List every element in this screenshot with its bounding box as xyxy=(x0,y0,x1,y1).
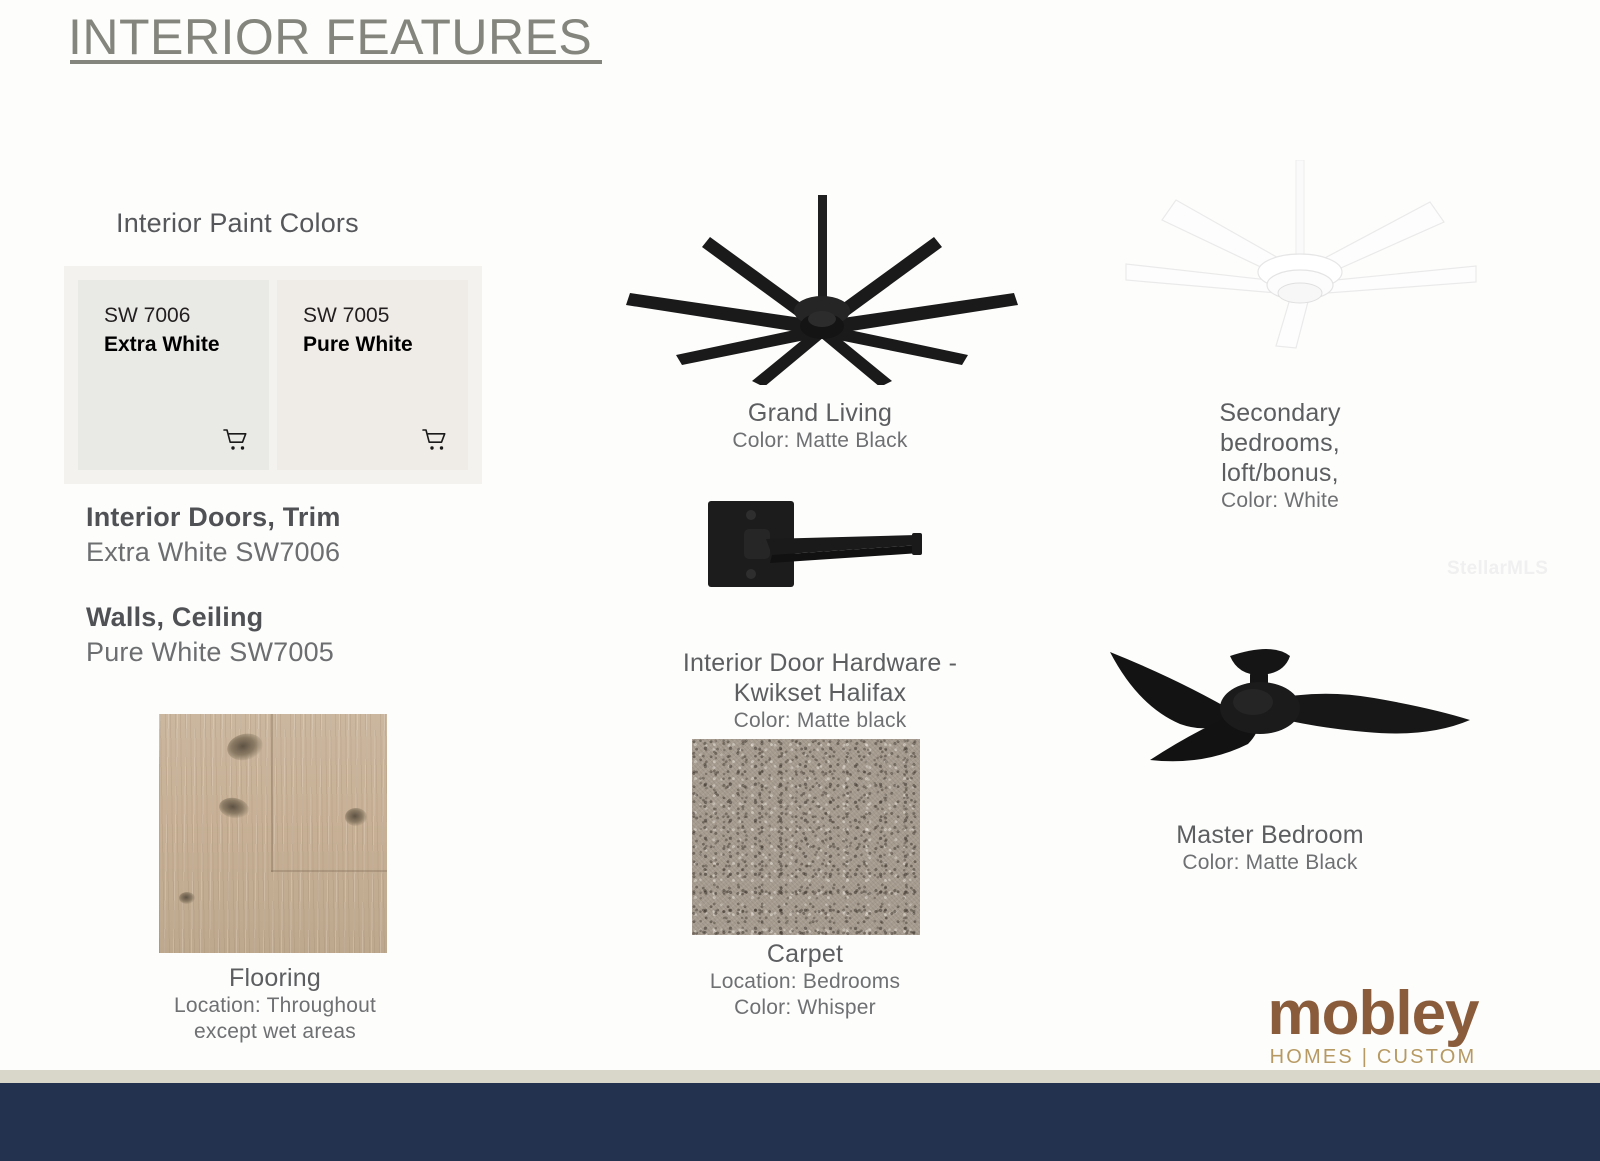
carpet-fiber-texture xyxy=(692,739,920,935)
paint-code: SW 7005 xyxy=(303,302,468,330)
paint-section-heading: Interior Paint Colors xyxy=(116,208,359,239)
caption-line-1: Interior Door Hardware - xyxy=(600,648,1040,678)
spec-value: Pure White SW7005 xyxy=(86,635,334,670)
caption-title: Carpet xyxy=(610,939,1000,969)
logo-wordmark: mobley xyxy=(1258,985,1488,1044)
caption-master-bedroom: Master Bedroom Color: Matte Black xyxy=(1080,820,1460,876)
wood-grain-texture xyxy=(159,714,387,953)
paint-name: Extra White xyxy=(104,330,269,359)
caption-carpet: Carpet Location: Bedrooms Color: Whisper xyxy=(610,939,1000,1020)
caption-location: Location: Bedrooms xyxy=(610,969,1000,995)
caption-color: Color: White xyxy=(1090,488,1470,514)
paint-name: Pure White xyxy=(303,330,468,359)
plank-seam-horizontal xyxy=(271,870,387,872)
caption-line-3: loft/bonus, xyxy=(1090,458,1470,488)
caption-line-1: Secondary xyxy=(1090,398,1470,428)
caption-location-cont: except wet areas xyxy=(120,1019,430,1045)
paint-swatch-panel: SW 7006 Extra White SW 7005 Pure White xyxy=(64,266,482,484)
spec-title: Walls, Ceiling xyxy=(86,600,334,635)
secondary-fan-image xyxy=(1100,160,1500,350)
door-lever-handle-icon xyxy=(680,495,980,625)
wood-knot-icon xyxy=(179,892,195,904)
cart-icon[interactable] xyxy=(223,428,249,452)
paint-swatch-extra-white[interactable]: SW 7006 Extra White xyxy=(78,280,269,470)
carpet-sample-image xyxy=(692,739,920,935)
ceiling-fan-5-blade-icon xyxy=(1100,160,1500,350)
flooring-sample-image xyxy=(159,714,387,953)
caption-color: Color: Matte Black xyxy=(600,428,1040,454)
caption-title: Grand Living xyxy=(600,398,1040,428)
caption-color: Color: Whisper xyxy=(610,995,1000,1021)
paint-code: SW 7006 xyxy=(104,302,269,330)
spec-interior-doors-trim: Interior Doors, Trim Extra White SW7006 xyxy=(86,500,341,569)
spec-title: Interior Doors, Trim xyxy=(86,500,341,535)
caption-line-2: Kwikset Halifax xyxy=(600,678,1040,708)
stellarmls-watermark: StellarMLS xyxy=(1447,558,1548,580)
spec-value: Extra White SW7006 xyxy=(86,535,341,570)
mobley-logo: mobley HOMES | CUSTOM xyxy=(1258,985,1488,1069)
caption-line-2: bedrooms, xyxy=(1090,428,1470,458)
caption-title: Flooring xyxy=(120,963,430,993)
page-canvas: INTERIOR FEATURES Interior Paint Colors … xyxy=(0,0,1600,1161)
master-fan-image xyxy=(1090,630,1490,790)
caption-flooring: Flooring Location: Throughout except wet… xyxy=(120,963,430,1044)
caption-secondary-fan: Secondary bedrooms, loft/bonus, Color: W… xyxy=(1090,398,1470,514)
caption-color: Color: Matte black xyxy=(600,708,1040,734)
wood-knot-icon xyxy=(345,808,367,826)
door-hardware-image xyxy=(680,495,980,625)
ceiling-fan-3-blade-icon xyxy=(1090,630,1490,790)
caption-grand-living: Grand Living Color: Matte Black xyxy=(600,398,1040,454)
plank-seam-vertical xyxy=(271,714,273,872)
logo-tagline: HOMES | CUSTOM xyxy=(1258,1046,1488,1069)
spec-walls-ceiling: Walls, Ceiling Pure White SW7005 xyxy=(86,600,334,669)
cart-icon[interactable] xyxy=(422,428,448,452)
caption-location: Location: Throughout xyxy=(120,993,430,1019)
flooring-sample-wrap xyxy=(159,714,387,953)
caption-color: Color: Matte Black xyxy=(1080,850,1460,876)
footer-accent-bar xyxy=(0,1070,1600,1083)
grand-living-fan-image xyxy=(612,195,1042,385)
paint-swatch-pure-white[interactable]: SW 7005 Pure White xyxy=(277,280,468,470)
caption-title: Master Bedroom xyxy=(1080,820,1460,850)
footer-bar xyxy=(0,1083,1600,1161)
ceiling-fan-8-blade-icon xyxy=(612,195,1042,385)
carpet-sample-wrap xyxy=(692,739,920,935)
caption-door-hardware: Interior Door Hardware - Kwikset Halifax… xyxy=(600,648,1040,734)
